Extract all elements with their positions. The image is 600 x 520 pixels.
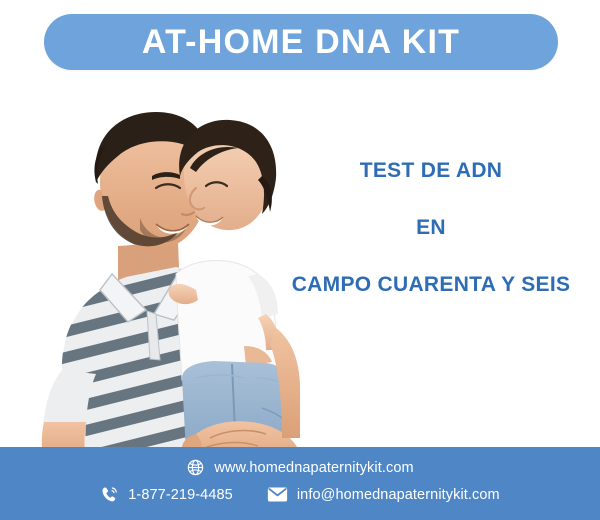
footer-row-website: www.homednapaternitykit.com [0, 458, 600, 477]
headline-block: TEST DE ADN EN CAMPO CUARENTA Y SEIS [262, 160, 600, 295]
email-text: info@homednapaternitykit.com [297, 487, 500, 503]
headline-line-3: CAMPO CUARENTA Y SEIS [262, 274, 600, 295]
email-contact-item[interactable]: info@homednapaternitykit.com [267, 486, 500, 503]
phone-icon [100, 485, 119, 504]
globe-icon [186, 458, 205, 477]
footer-contact-bar: www.homednapaternitykit.com 1-877-219-44… [0, 447, 600, 520]
headline-line-1: TEST DE ADN [262, 160, 600, 181]
phone-text: 1-877-219-4485 [128, 487, 233, 503]
website-contact-item[interactable]: www.homednapaternitykit.com [186, 458, 413, 477]
banner-title: AT-HOME DNA KIT [142, 25, 460, 59]
header-banner: AT-HOME DNA KIT [44, 14, 558, 70]
footer-row-phone-email: 1-877-219-4485 info@homednapaternitykit.… [0, 485, 600, 504]
phone-contact-item[interactable]: 1-877-219-4485 [100, 485, 233, 504]
website-text: www.homednapaternitykit.com [214, 460, 413, 476]
envelope-icon [267, 486, 288, 503]
headline-line-2: EN [262, 217, 600, 238]
poster-root: AT-HOME DNA KIT [0, 0, 600, 520]
